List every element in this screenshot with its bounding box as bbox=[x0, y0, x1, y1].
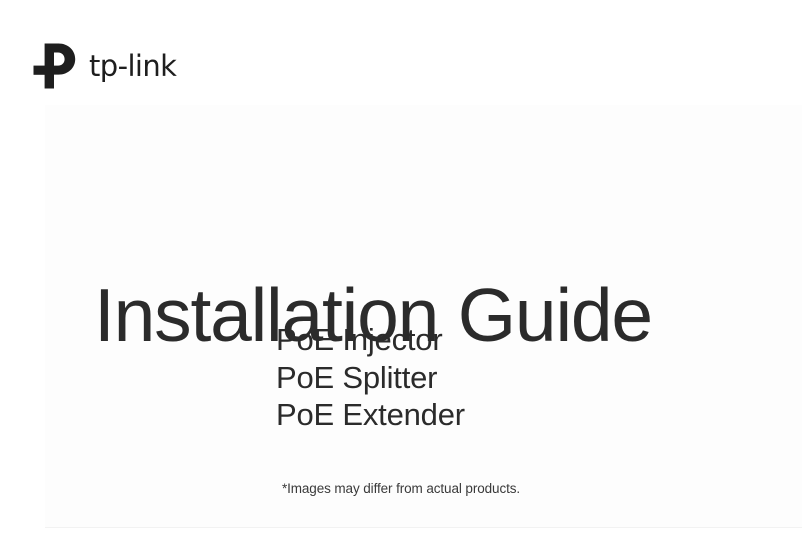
brand-wordmark: tp-link bbox=[89, 52, 176, 81]
brand-logo: tp-link bbox=[33, 42, 176, 90]
product-list: PoE Injector PoE Splitter PoE Extender bbox=[276, 321, 465, 434]
tp-link-logo-icon bbox=[33, 43, 85, 89]
list-item: PoE Injector bbox=[276, 321, 465, 359]
footnote-disclaimer: *Images may differ from actual products. bbox=[0, 481, 802, 496]
list-item: PoE Splitter bbox=[276, 359, 465, 397]
list-item: PoE Extender bbox=[276, 396, 465, 434]
installation-guide-cover-page: tp-link Installation Guide PoE Injector … bbox=[0, 0, 802, 533]
